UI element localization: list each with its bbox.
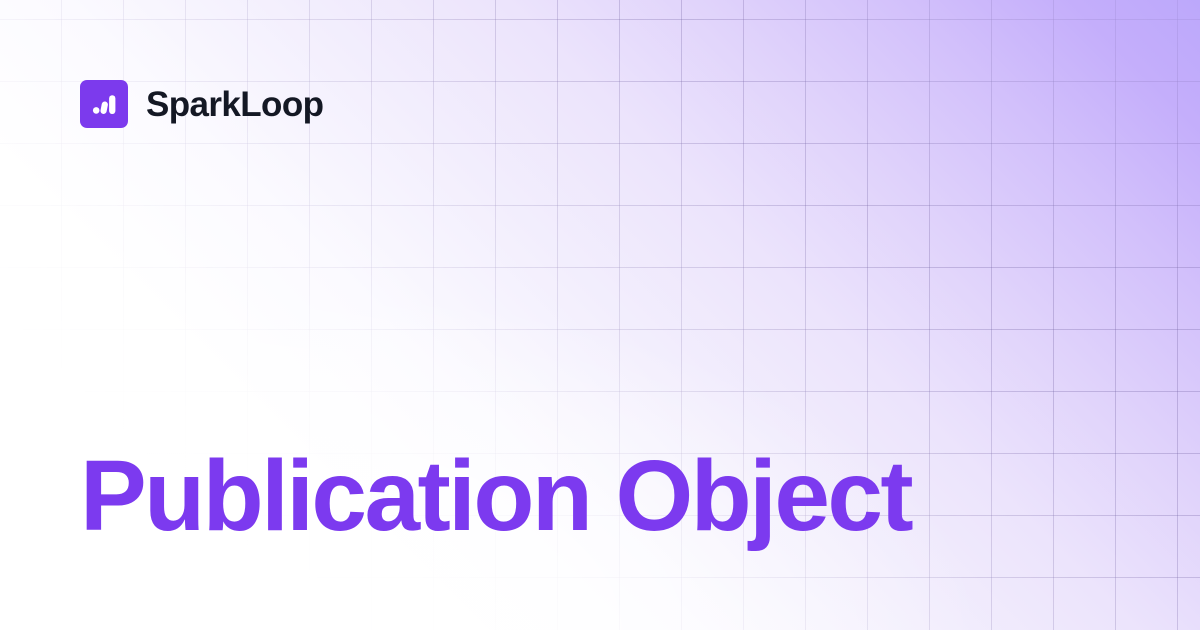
bar-chart-logo-icon [80,80,128,128]
og-card: SparkLoop Publication Object [0,0,1200,630]
brand-lockup: SparkLoop [80,80,323,128]
page-title: Publication Object [80,440,911,552]
brand-name: SparkLoop [146,87,323,122]
